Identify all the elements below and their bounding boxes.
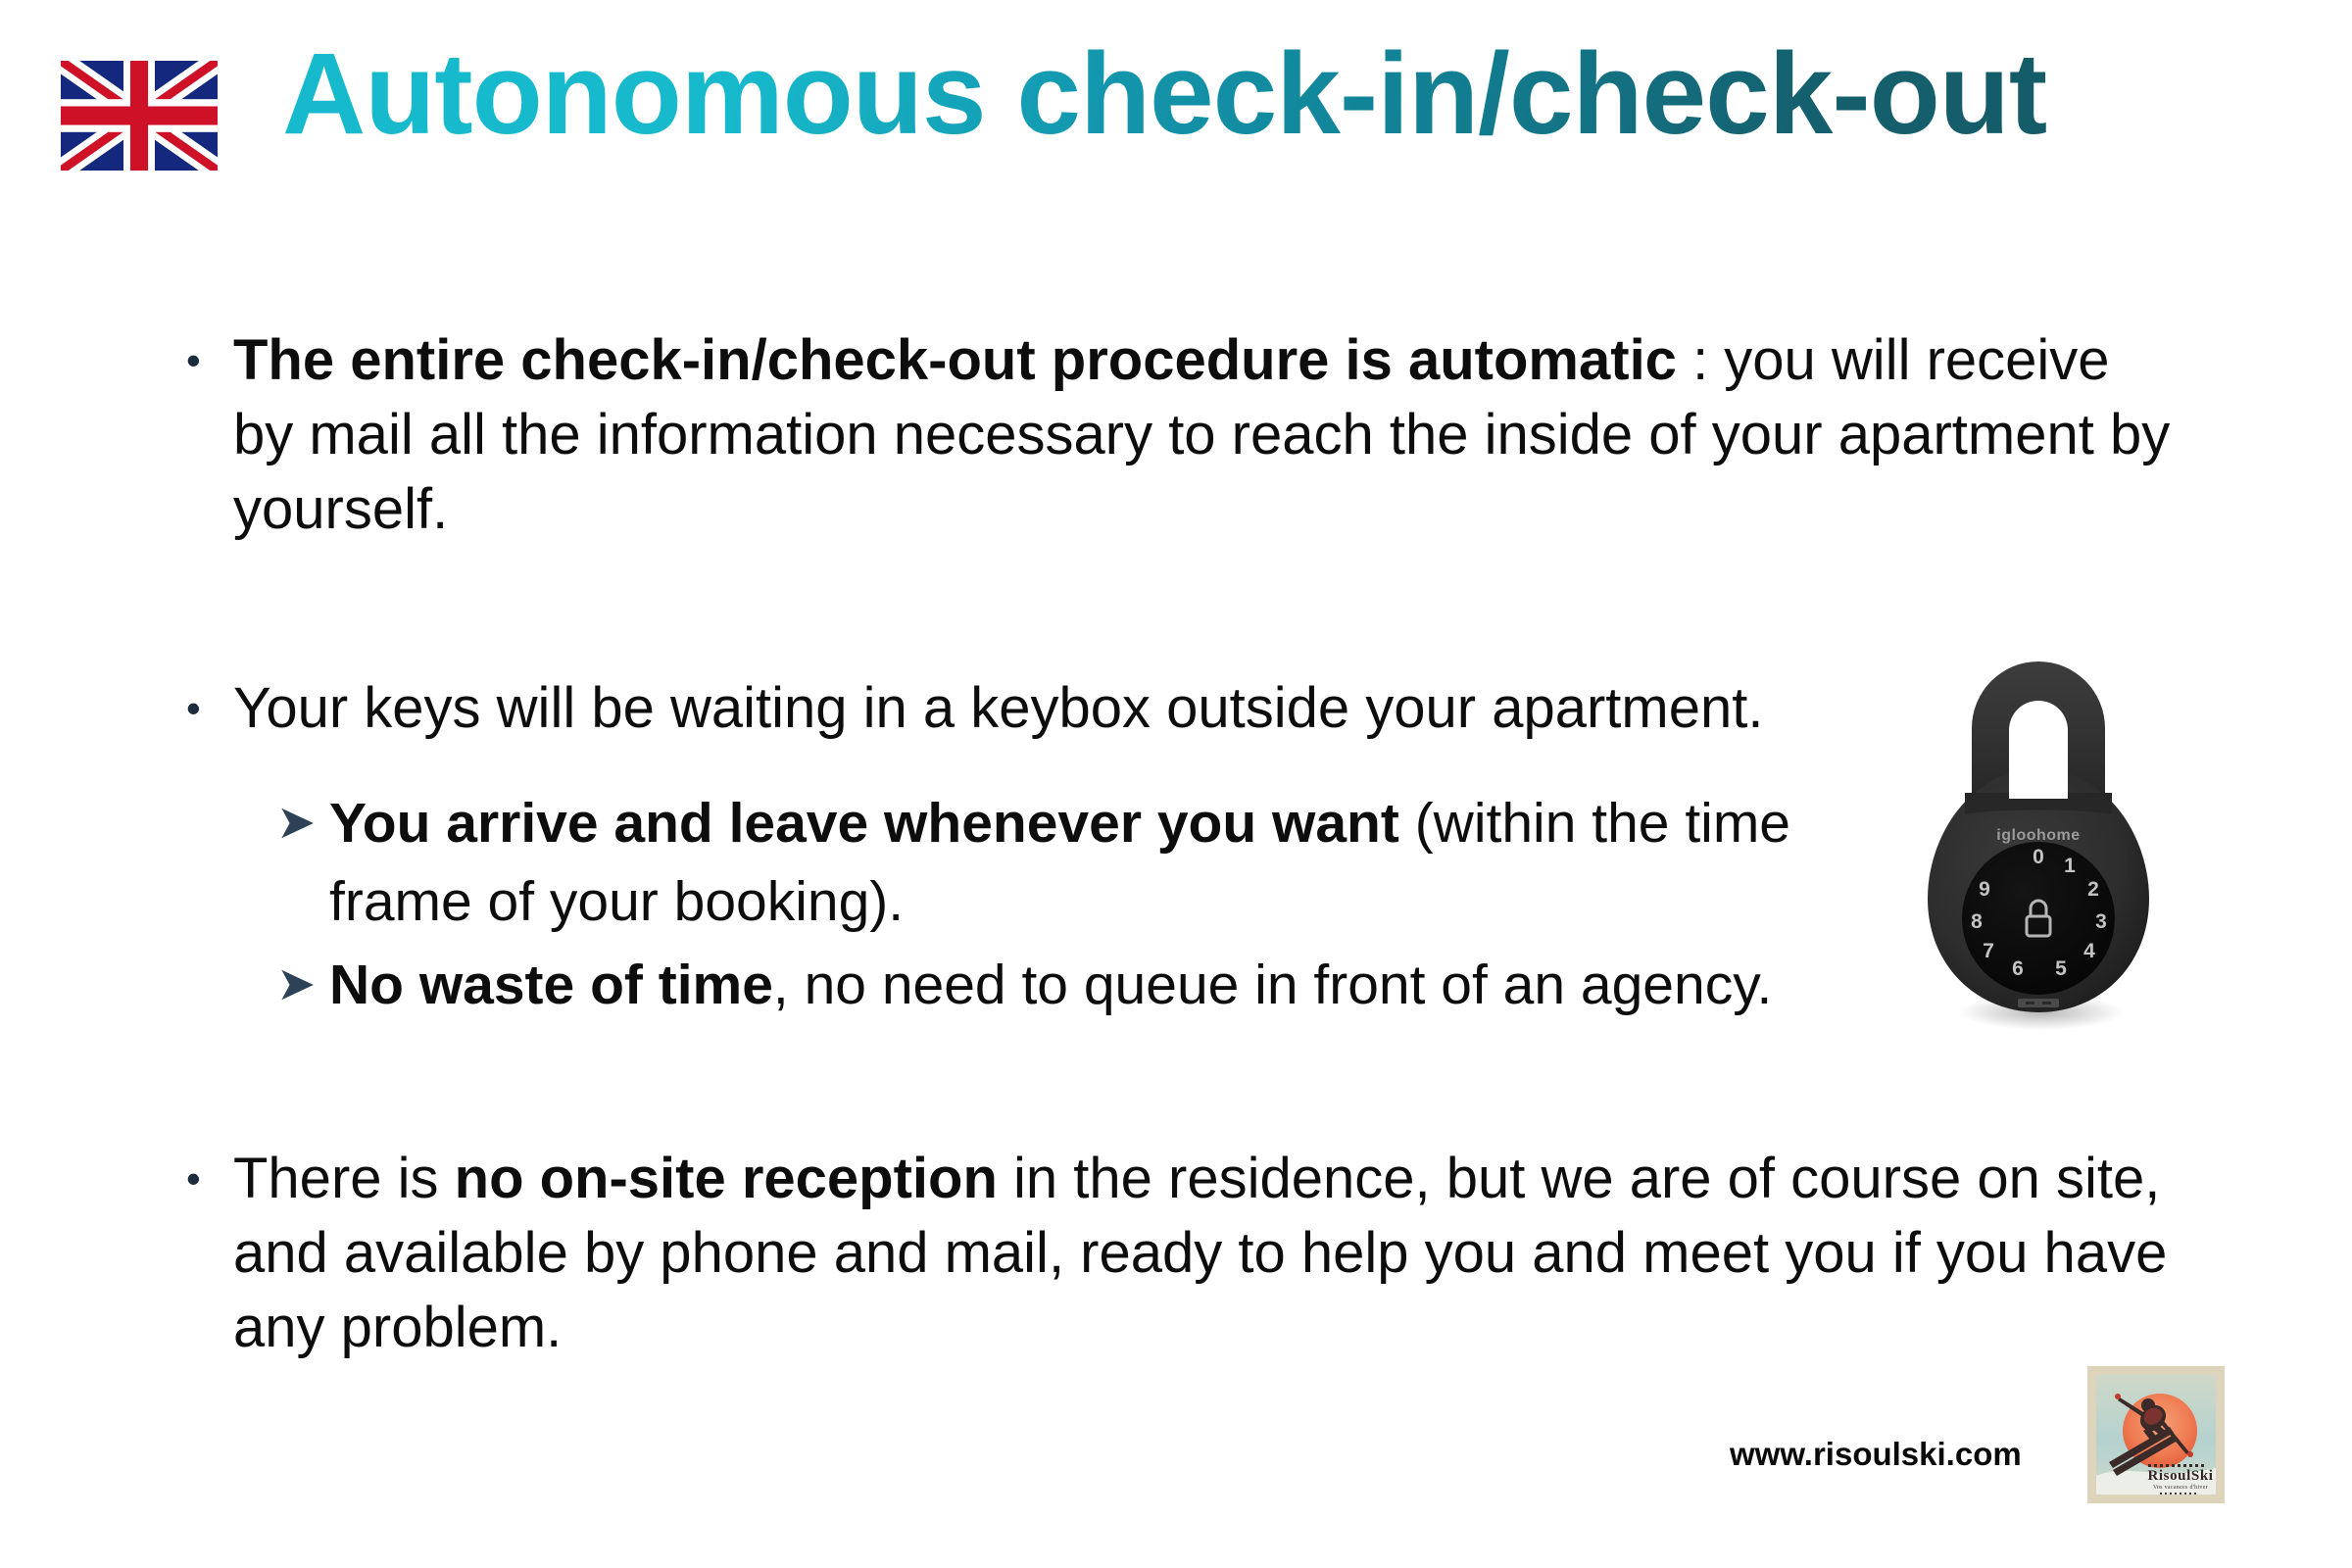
bullet-marker-icon: • [186, 1142, 233, 1216]
slide-canvas: Autonomous check-in/check-out • The enti… [0, 0, 2352, 1568]
svg-text:5: 5 [2055, 957, 2067, 980]
sub-bullet-text: No waste of time, no need to queue in fr… [329, 946, 1942, 1024]
bullet-bold-lead: The entire check-in/check-out procedure … [233, 328, 1677, 392]
svg-text:9: 9 [1979, 878, 1990, 901]
sub-bullet-rest: , no need to queue in front of an agency… [773, 954, 1772, 1016]
bullet-item-no-reception: • There is no on-site reception in the r… [186, 1142, 2215, 1365]
sub-bullet-bold-lead: No waste of time [329, 954, 773, 1016]
logo-tagline-text: Vos vacances d'hiver [2153, 1485, 2208, 1491]
bullet-item-procedure: • The entire check-in/check-out procedur… [186, 323, 2176, 547]
bullet-marker-icon: • [186, 671, 233, 746]
arrow-right-icon: ➤ [276, 946, 329, 1024]
svg-text:4: 4 [2083, 940, 2095, 962]
sub-bullet-item-arrive-leave: ➤ You arrive and leave whenever you want… [276, 784, 1903, 941]
keybox-brand-label: igloohome [1996, 827, 2080, 844]
bullet-item-keybox: • Your keys will be waiting in a keybox … [186, 671, 2048, 746]
footer-website-url[interactable]: www.risoulski.com [1730, 1436, 2022, 1473]
bullet-text: Your keys will be waiting in a keybox ou… [233, 671, 2048, 746]
sub-bullet-item-no-waste-of-time: ➤ No waste of time, no need to queue in … [276, 946, 1942, 1024]
sub-bullet-text: You arrive and leave whenever you want (… [329, 784, 1903, 941]
bullet-bold: no on-site reception [455, 1147, 998, 1210]
bullet-marker-icon: • [186, 323, 233, 398]
sub-bullet-bold-lead: You arrive and leave whenever you want [329, 792, 1399, 855]
svg-text:8: 8 [1971, 910, 1983, 933]
svg-text:3: 3 [2095, 910, 2107, 933]
svg-text:0: 0 [2033, 846, 2044, 868]
bullet-text: There is no on-site reception in the res… [233, 1142, 2215, 1365]
arrow-right-icon: ➤ [276, 784, 329, 862]
svg-text:7: 7 [1983, 940, 1994, 962]
bullet-pre: There is [233, 1147, 455, 1210]
svg-text:1: 1 [2064, 855, 2076, 877]
bullet-text: The entire check-in/check-out procedure … [233, 323, 2176, 547]
risoulski-logo[interactable]: RisoulSki Vos vacances d'hiver [2087, 1366, 2225, 1503]
logo-brand-text: RisoulSki [2147, 1468, 2213, 1484]
svg-text:6: 6 [2012, 957, 2024, 980]
igloohome-smart-keybox-image: igloohome 0 1 2 3 4 5 6 7 8 9 [1916, 652, 2161, 1034]
svg-text:2: 2 [2087, 878, 2099, 901]
